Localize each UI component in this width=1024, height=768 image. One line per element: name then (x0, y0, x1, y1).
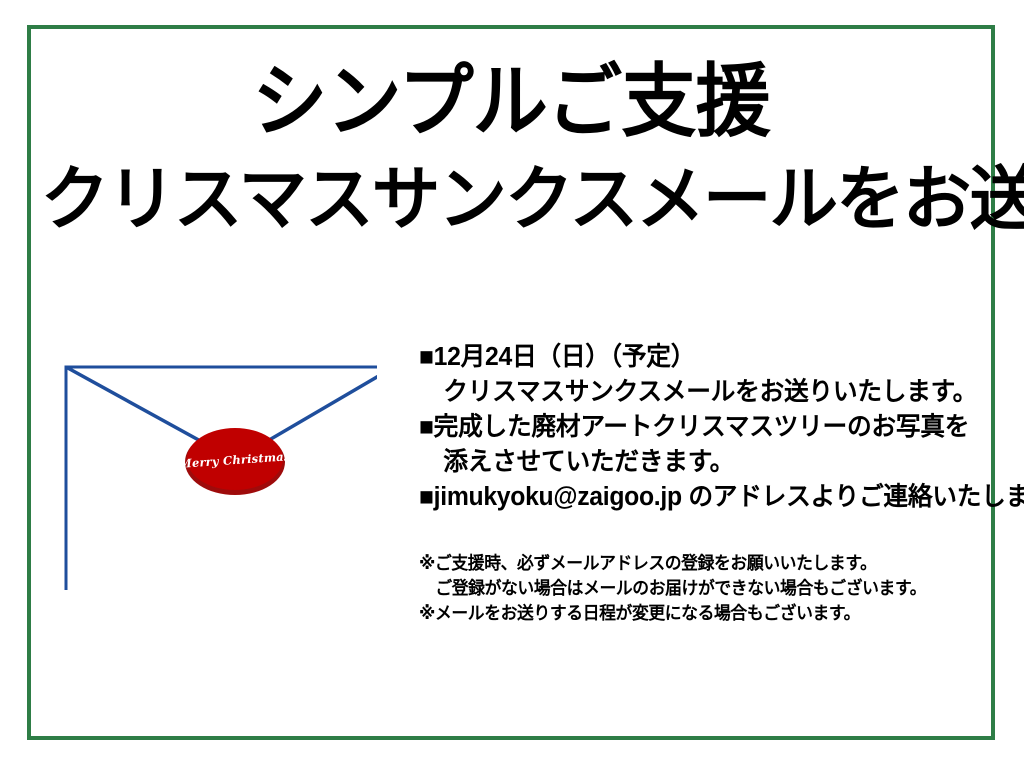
detail-item: 添えさせていただきます。 (419, 445, 1020, 480)
detail-item-text: 添えさせていただきます。 (443, 448, 734, 476)
headline-secondary: クリスマスサンクスメールをお送りします (41, 164, 982, 234)
footnote-text: ※ご支援時、必ずメールアドレスの登録をお願いいたします。 (419, 553, 877, 573)
footnotes-block: ※ご支援時、必ずメールアドレスの登録をお願いいたします。 ご登録がない場合はメー… (419, 551, 1024, 626)
headline-primary: シンプルご支援 (60, 62, 962, 142)
bullet-square-icon: ■ (419, 483, 434, 511)
detail-item-text: クリスマスサンクスメールをお送りいたします。 (443, 378, 977, 406)
detail-item-text: jimukyoku@zaigoo.jp のアドレスよりご連絡いたします。 (434, 483, 1024, 511)
detail-item-text: 12月24日（日）（予定） (434, 343, 696, 371)
detail-item: クリスマスサンクスメールをお送りいたします。 (419, 375, 1020, 410)
detail-item-text: 完成した廃材アートクリスマスツリーのお写真を (434, 413, 970, 441)
bullet-square-icon: ■ (419, 343, 434, 371)
detail-item: ■12月24日（日）（予定） (419, 340, 1020, 375)
details-list: ■12月24日（日）（予定） クリスマスサンクスメールをお送りいたします。 ■完… (419, 340, 1024, 515)
footnote-item: ※メールをお送りする日程が変更になる場合もございます。 (419, 601, 1014, 626)
bullet-square-icon: ■ (419, 413, 434, 441)
detail-item: ■完成した廃材アートクリスマスツリーのお写真を (419, 410, 1020, 445)
footnote-text: ご登録がない場合はメールのお届けができない場合もございます。 (435, 578, 926, 598)
detail-item-email: ■jimukyoku@zaigoo.jp のアドレスよりご連絡いたします。 (419, 480, 1020, 515)
footnote-text: ※メールをお送りする日程が変更になる場合もございます。 (419, 603, 860, 623)
footnote-item: ※ご支援時、必ずメールアドレスの登録をお願いいたします。 (419, 551, 1014, 576)
envelope-illustration: Merry Christmas (39, 340, 377, 590)
poster-frame: シンプルご支援 クリスマスサンクスメールをお送りします Merry Christ… (27, 25, 995, 740)
footnote-item: ご登録がない場合はメールのお届けができない場合もございます。 (419, 576, 1014, 601)
